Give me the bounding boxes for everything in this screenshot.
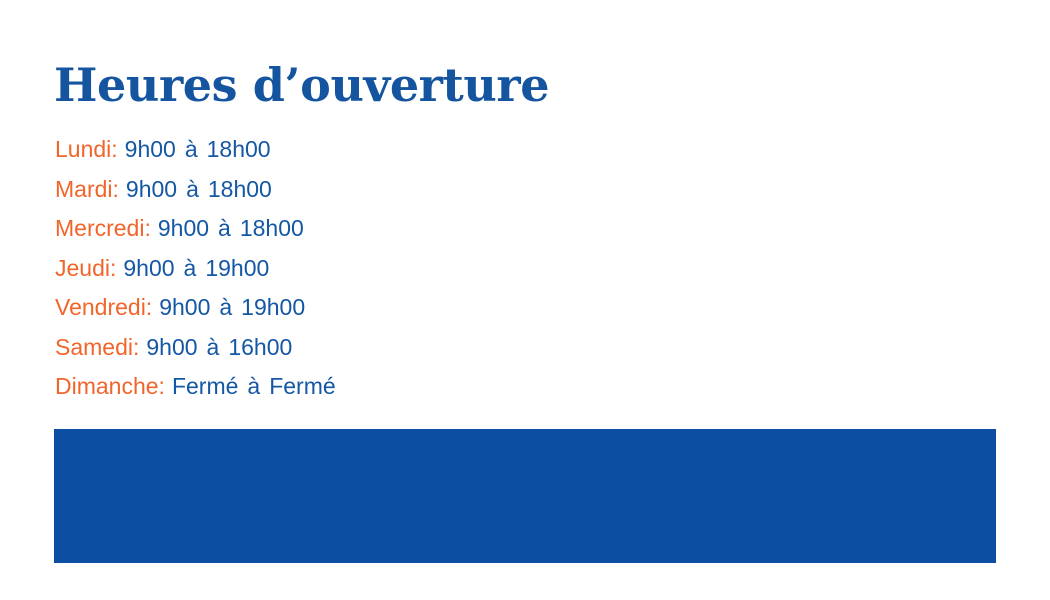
footer-color-band bbox=[54, 429, 996, 563]
open-time: 9h00 bbox=[159, 294, 210, 320]
open-time: 9h00 bbox=[125, 136, 176, 162]
day-label: Vendredi: bbox=[55, 294, 152, 320]
time-separator: à bbox=[186, 176, 199, 202]
day-label: Jeudi: bbox=[55, 255, 116, 281]
time-separator: à bbox=[185, 136, 198, 162]
day-label: Mercredi: bbox=[55, 215, 151, 241]
time-separator: à bbox=[219, 294, 232, 320]
close-time: 19h00 bbox=[205, 255, 269, 281]
close-time: 18h00 bbox=[207, 136, 271, 162]
open-time: 9h00 bbox=[123, 255, 174, 281]
close-time: 19h00 bbox=[241, 294, 305, 320]
close-time: 16h00 bbox=[228, 334, 292, 360]
time-separator: à bbox=[218, 215, 231, 241]
day-label: Samedi: bbox=[55, 334, 139, 360]
list-item: Dimanche:FerméàFermé bbox=[55, 370, 955, 410]
day-label: Lundi: bbox=[55, 136, 118, 162]
day-label: Mardi: bbox=[55, 176, 119, 202]
close-time: 18h00 bbox=[208, 176, 272, 202]
list-item: Mercredi:9h00à18h00 bbox=[55, 212, 955, 252]
close-time: Fermé bbox=[269, 373, 335, 399]
close-time: 18h00 bbox=[240, 215, 304, 241]
list-item: Jeudi:9h00à19h00 bbox=[55, 252, 955, 292]
open-time: 9h00 bbox=[158, 215, 209, 241]
list-item: Vendredi:9h00à19h00 bbox=[55, 291, 955, 331]
open-time: 9h00 bbox=[146, 334, 197, 360]
list-item: Mardi:9h00à18h00 bbox=[55, 173, 955, 213]
open-time: 9h00 bbox=[126, 176, 177, 202]
page-title: Heures d’ouverture bbox=[54, 59, 549, 111]
time-separator: à bbox=[247, 373, 260, 399]
time-separator: à bbox=[207, 334, 220, 360]
slide-canvas: Heures d’ouverture Lundi:9h00à18h00 Mard… bbox=[0, 0, 1050, 600]
opening-hours-list: Lundi:9h00à18h00 Mardi:9h00à18h00 Mercre… bbox=[55, 133, 955, 410]
list-item: Lundi:9h00à18h00 bbox=[55, 133, 955, 173]
open-time: Fermé bbox=[172, 373, 238, 399]
time-separator: à bbox=[184, 255, 197, 281]
day-label: Dimanche: bbox=[55, 373, 165, 399]
list-item: Samedi:9h00à16h00 bbox=[55, 331, 955, 371]
